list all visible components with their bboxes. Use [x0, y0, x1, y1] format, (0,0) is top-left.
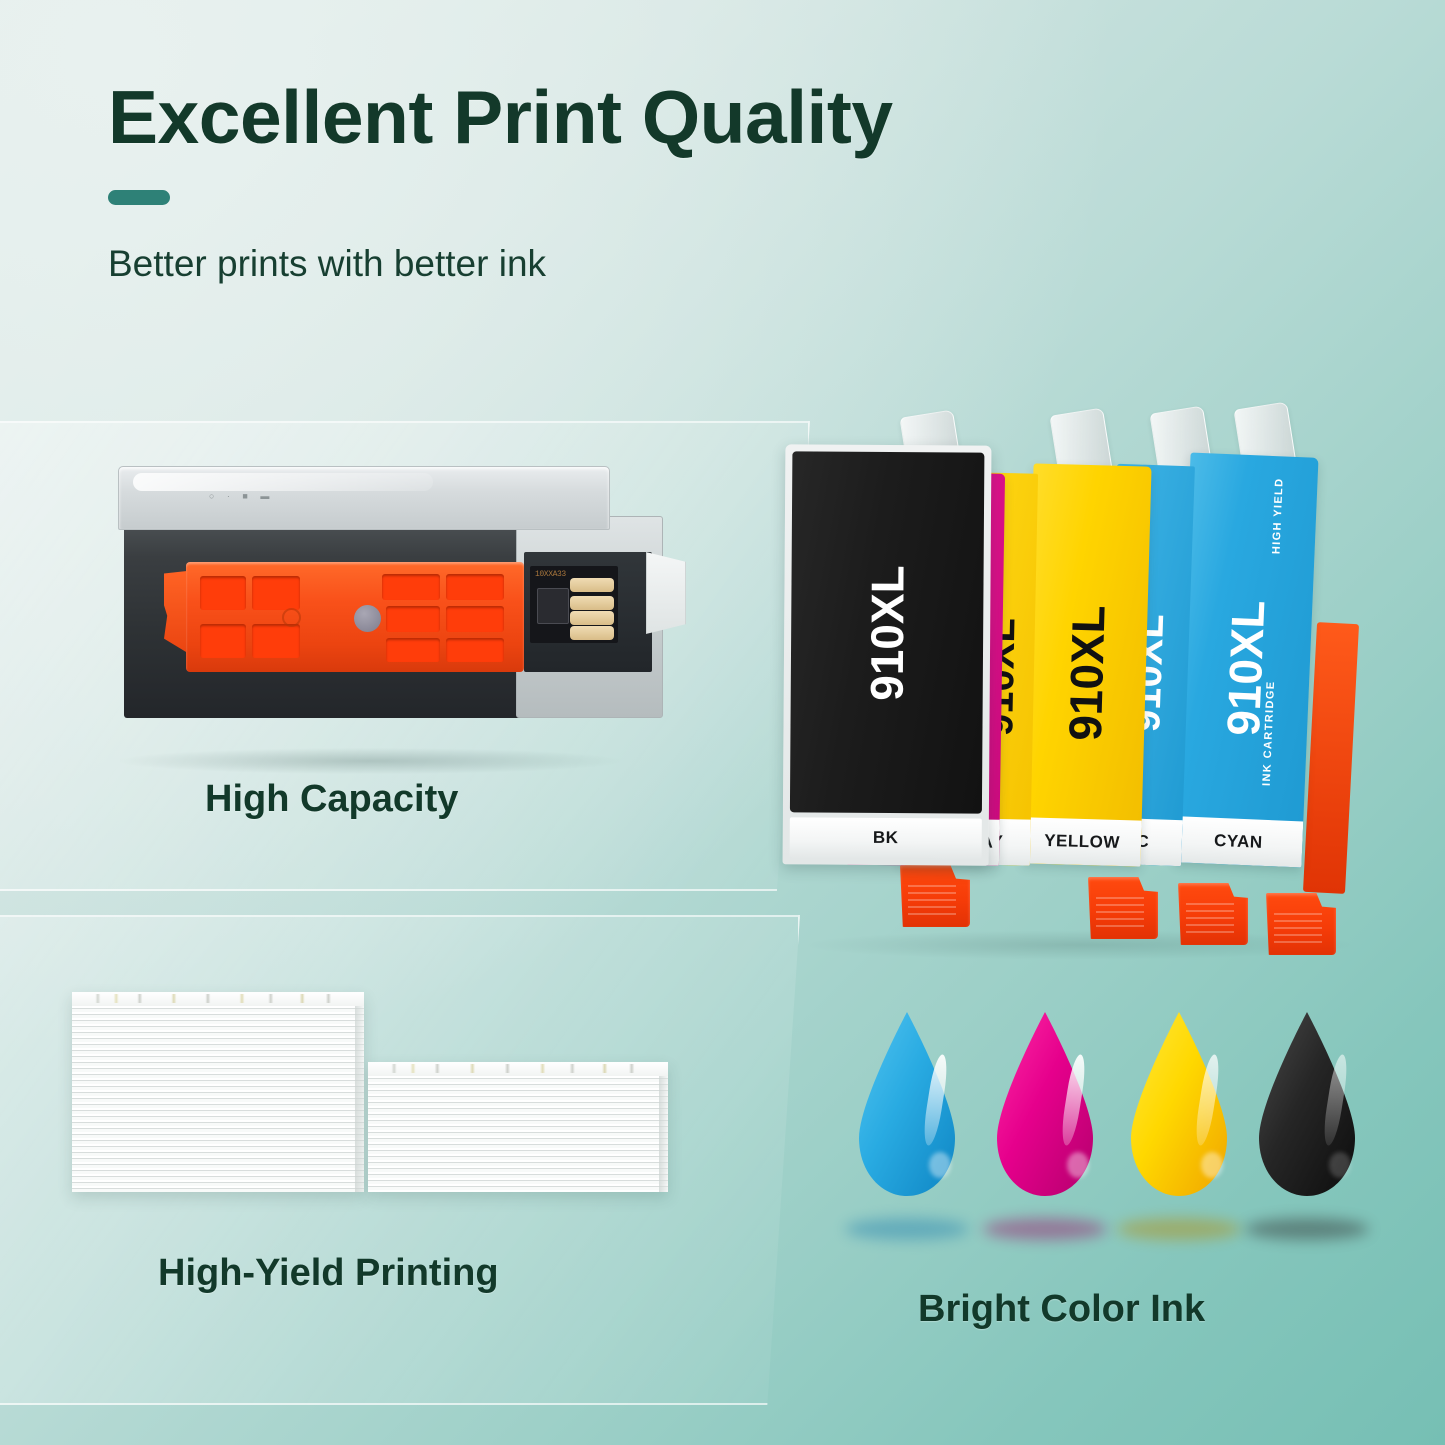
printhead-shadow	[120, 748, 620, 774]
clip-slot	[446, 574, 504, 600]
chip-contact-pad	[570, 626, 614, 640]
caption-bright-color: Bright Color Ink	[918, 1288, 1205, 1331]
cartridge-release-tab[interactable]	[1088, 877, 1158, 939]
header-block: Excellent Print Quality Better prints wi…	[108, 78, 1338, 285]
printhead-orange-clip	[164, 562, 524, 672]
drop-gloss-spot	[1201, 1152, 1223, 1178]
paper-stack-side	[355, 992, 364, 1192]
chip-code-text: 10XXA33	[535, 570, 566, 579]
chip-contact-pad	[570, 611, 614, 625]
cartridge-black-code: BK	[873, 828, 899, 848]
paper-sheet-edges	[368, 1076, 668, 1192]
drop-gloss-spot	[1329, 1152, 1351, 1178]
caption-high-yield: High-Yield Printing	[158, 1252, 499, 1295]
ink-drop-magenta	[989, 1010, 1101, 1200]
chip-ic	[537, 588, 569, 624]
clip-body	[186, 562, 524, 672]
clip-slot	[200, 624, 246, 658]
release-tab-ridges	[1274, 913, 1322, 943]
clip-slot	[252, 576, 300, 610]
cartridge-black[interactable]: 910XL BK	[783, 444, 992, 865]
printhead-lid: ○ · ■ ▬	[118, 466, 610, 530]
cartridge-black-model: 910XL	[860, 565, 915, 701]
cartridge-group: 910XL HIGH YIELD INK CARTRIDGE CYAN 910X…	[790, 395, 1390, 955]
lid-markings: ○ · ■ ▬	[209, 491, 274, 501]
accent-divider	[108, 190, 170, 205]
cartridge-yellow[interactable]: 910XL YELLOW	[1022, 463, 1151, 866]
clip-screw-mark	[282, 608, 301, 627]
drop-gloss-spot	[929, 1152, 951, 1178]
chip-contact-pad	[570, 578, 614, 592]
cartridge-black-body: 910XL	[790, 451, 985, 813]
cartridge-release-tab[interactable]	[1178, 883, 1248, 945]
release-tab-ridges	[1186, 903, 1234, 933]
paper-stack-side	[659, 1062, 668, 1192]
page-title: Excellent Print Quality	[108, 78, 1338, 157]
release-tab-ridges	[1096, 897, 1144, 927]
cartridge-cyan-highyield: HIGH YIELD	[1270, 477, 1285, 554]
cartridge-release-tab[interactable]	[900, 865, 970, 927]
ink-drop-cyan	[851, 1010, 963, 1200]
paper-stack-top	[72, 992, 364, 1006]
drop-gloss-spot	[1067, 1152, 1089, 1178]
release-tab-ridges	[908, 885, 956, 915]
cartridge-release-tab[interactable]	[1266, 893, 1336, 955]
ink-drops-group	[845, 1010, 1365, 1220]
drop-shadow-black	[1245, 1218, 1369, 1240]
paper-top-texture	[386, 1064, 656, 1073]
clip-ink-port	[354, 605, 381, 632]
clip-slot	[200, 576, 246, 610]
chip-contact-pad	[570, 596, 614, 610]
paper-stack-small	[368, 1062, 668, 1192]
paper-stack-large	[72, 992, 364, 1192]
lid-gloss	[133, 473, 433, 491]
ink-drop-shadows	[845, 1218, 1365, 1248]
cartridge-cyan-namelabel: CYAN	[1173, 816, 1303, 867]
paper-sheet-edges	[72, 1006, 364, 1192]
clip-slot	[252, 624, 300, 658]
clip-slot	[386, 638, 440, 662]
paper-top-texture	[90, 994, 353, 1003]
printhead-photo: 10XXA33 ○ · ■ ▬	[118, 466, 660, 756]
ink-drop-yellow	[1123, 1010, 1235, 1200]
drop-shadow-magenta	[983, 1218, 1107, 1240]
clip-slot	[382, 574, 440, 600]
ink-drop-black	[1251, 1010, 1363, 1200]
page-subtitle: Better prints with better ink	[108, 243, 1338, 285]
printhead-white-tab	[646, 552, 686, 634]
cartridge-cyan[interactable]: 910XL HIGH YIELD INK CARTRIDGE CYAN	[1173, 452, 1318, 867]
clip-slot	[446, 606, 504, 632]
cartridge-yellow-model: 910XL	[1058, 605, 1116, 742]
clip-slot	[386, 606, 440, 632]
clip-slot	[446, 638, 504, 662]
caption-high-capacity: High Capacity	[205, 778, 458, 821]
cartridge-orange-edge	[1303, 622, 1359, 894]
printhead-chip: 10XXA33	[530, 566, 618, 643]
cartridge-black-codelabel: BK	[790, 817, 982, 858]
paper-stack-top	[368, 1062, 668, 1076]
cartridge-yellow-name: YELLOW	[1044, 831, 1120, 853]
infographic-canvas: Excellent Print Quality Better prints wi…	[0, 0, 1445, 1445]
drop-shadow-yellow	[1117, 1218, 1241, 1240]
cartridge-cyan-name: CYAN	[1214, 831, 1263, 853]
drop-shadow-cyan	[845, 1218, 969, 1240]
cartridge-yellow-namelabel: YELLOW	[1022, 817, 1141, 866]
